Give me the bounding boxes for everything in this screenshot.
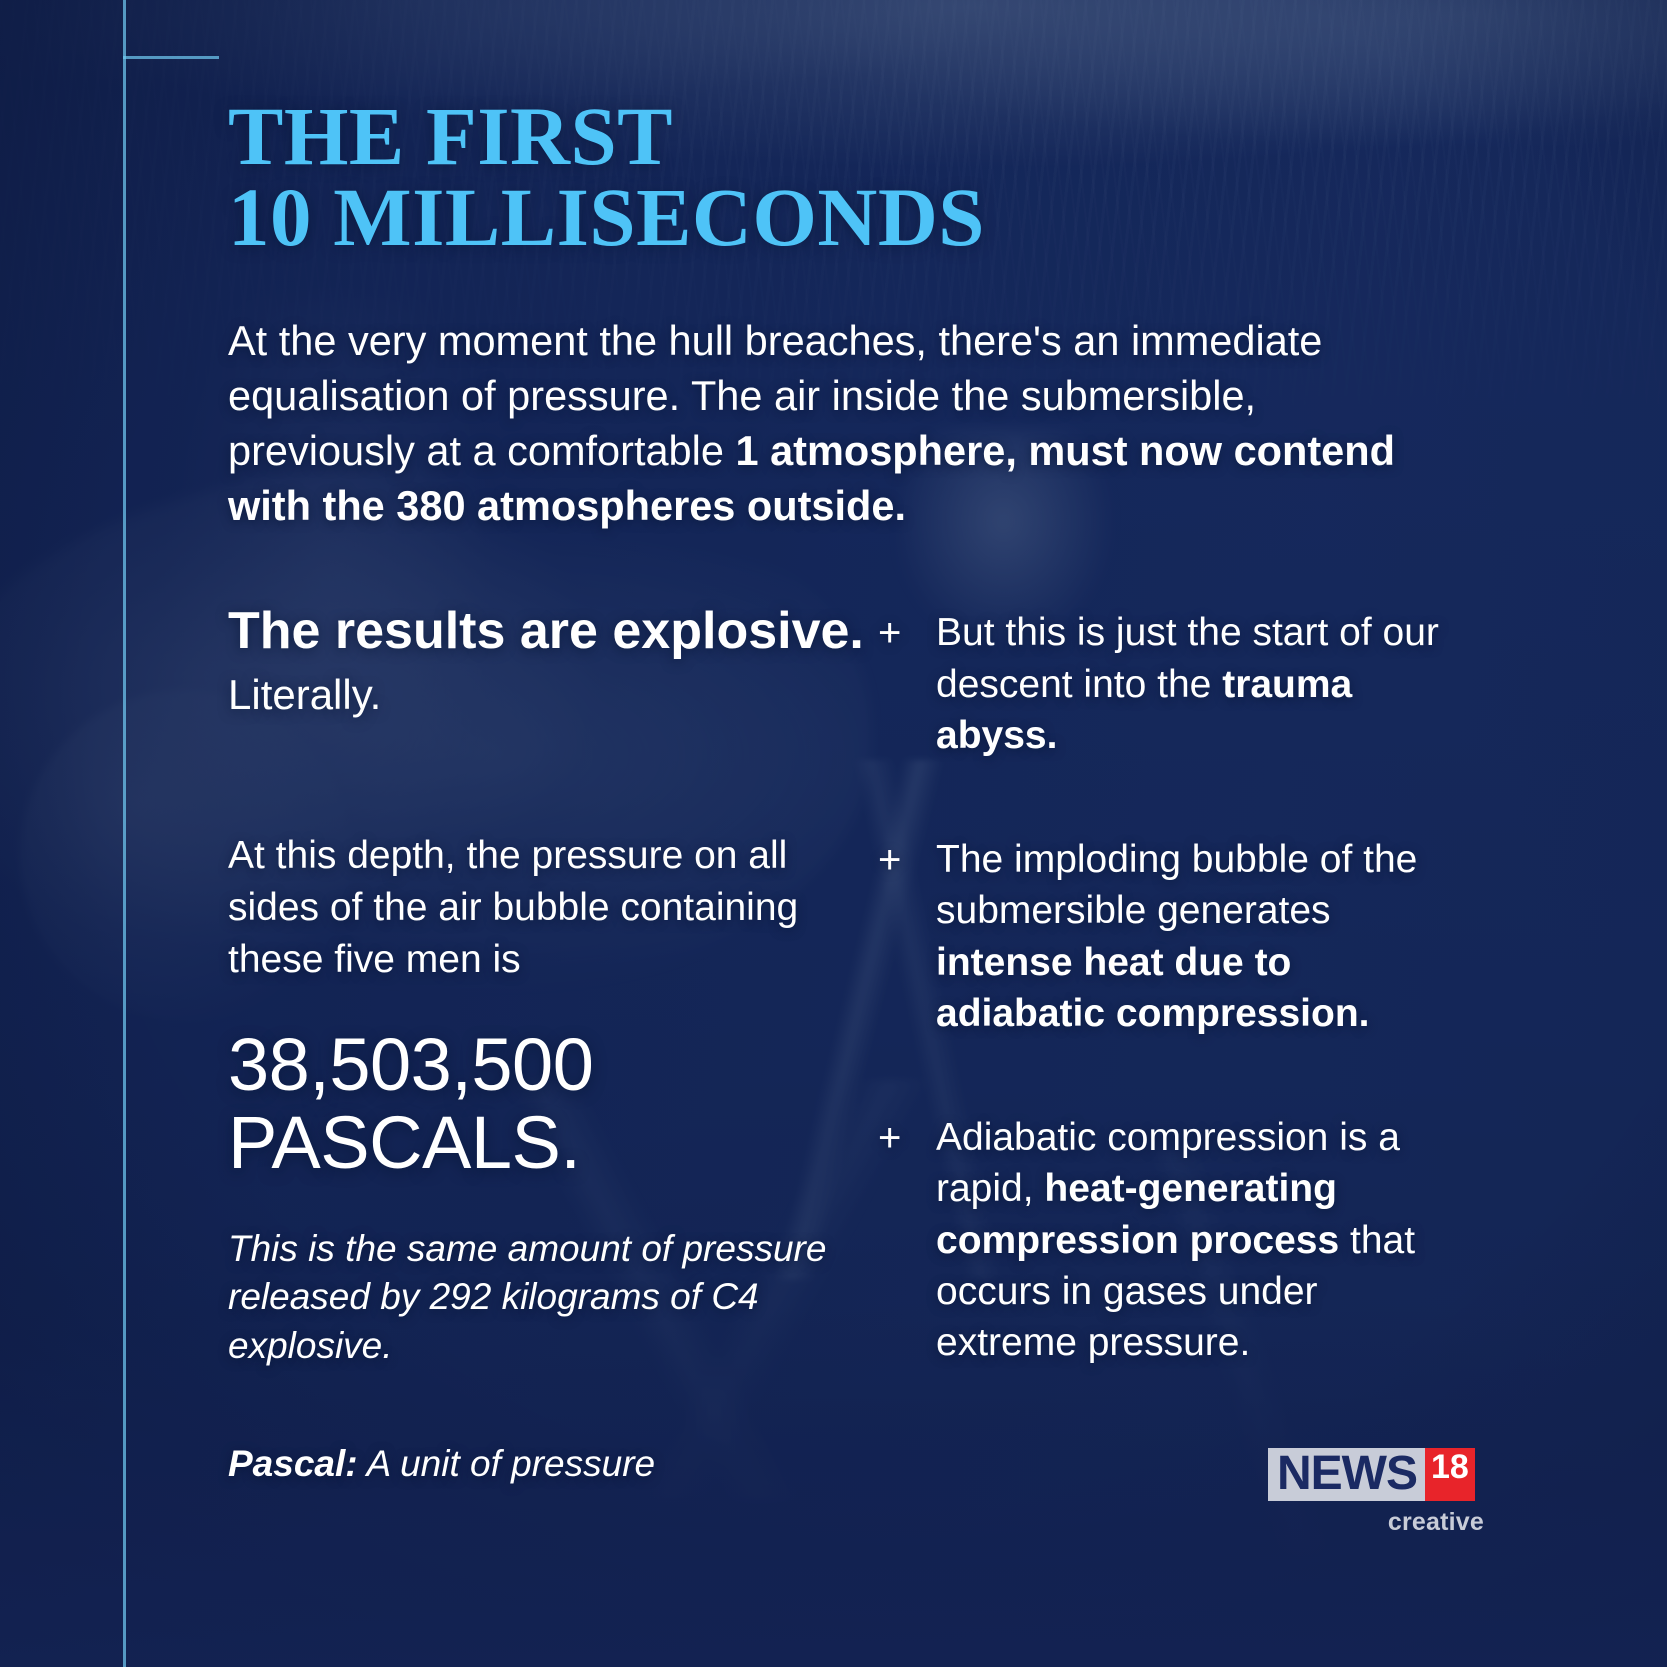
logo-news-text: NEWS (1268, 1448, 1425, 1501)
plus-icon: + (878, 834, 936, 1040)
bullet-plain-1: But this is just the start of our descen… (936, 611, 1439, 705)
list-item: + The imploding bubble of the submersibl… (878, 834, 1458, 1040)
headline-line-2: 10 MILLISECONDS (228, 177, 1458, 258)
list-item: + But this is just the start of our desc… (878, 607, 1458, 761)
pressure-value: 38,503,500 PASCALS. (228, 1026, 878, 1183)
news18-creative-logo: NEWS 18 creative (1268, 1448, 1484, 1537)
bullet-bold-1: intense heat due to adiabatic compressio… (936, 941, 1369, 1035)
list-item: + Adiabatic compression is a rapid, heat… (878, 1112, 1458, 1369)
intro-paragraph: At the very moment the hull breaches, th… (228, 314, 1398, 533)
pascal-definition: Pascal: A unit of pressure (228, 1443, 878, 1485)
pressure-unit: PASCALS. (228, 1104, 878, 1182)
plus-icon: + (878, 607, 936, 761)
pressure-number: 38,503,500 (228, 1023, 593, 1106)
plus-icon: + (878, 1112, 936, 1369)
depth-paragraph: At this depth, the pressure on all sides… (228, 830, 878, 987)
bullet-text: But this is just the start of our descen… (936, 607, 1458, 761)
logo-creative-text: creative (1268, 1508, 1484, 1537)
page-title: THE FIRST 10 MILLISECONDS (228, 96, 1458, 259)
pascal-meaning: A unit of pressure (358, 1443, 656, 1484)
results-lead-bold: The results are explosive. (228, 602, 864, 660)
bullet-plain-1: The imploding bubble of the submersible … (936, 838, 1417, 932)
pascal-term: Pascal: (228, 1443, 358, 1484)
content-area: THE FIRST 10 MILLISECONDS At the very mo… (228, 0, 1458, 1522)
right-column: + But this is just the start of our desc… (878, 601, 1458, 1522)
headline-line-1: THE FIRST (228, 90, 673, 182)
bullet-text: The imploding bubble of the submersible … (936, 834, 1458, 1040)
left-column: The results are explosive. Literally. At… (228, 601, 878, 1522)
c4-equivalence-note: This is the same amount of pressure rele… (228, 1225, 878, 1371)
two-column-body: The results are explosive. Literally. At… (228, 601, 1458, 1522)
results-lead: The results are explosive. Literally. (228, 601, 878, 722)
infographic-canvas: THE FIRST 10 MILLISECONDS At the very mo… (0, 0, 1667, 1667)
top-accent-rule (123, 56, 219, 59)
logo-wordmark-row: NEWS 18 (1268, 1448, 1484, 1501)
logo-18-badge: 18 (1425, 1448, 1475, 1501)
bullet-text: Adiabatic compression is a rapid, heat-g… (936, 1112, 1458, 1369)
results-lead-light: Literally. (228, 671, 381, 718)
left-accent-rule (123, 0, 126, 1667)
